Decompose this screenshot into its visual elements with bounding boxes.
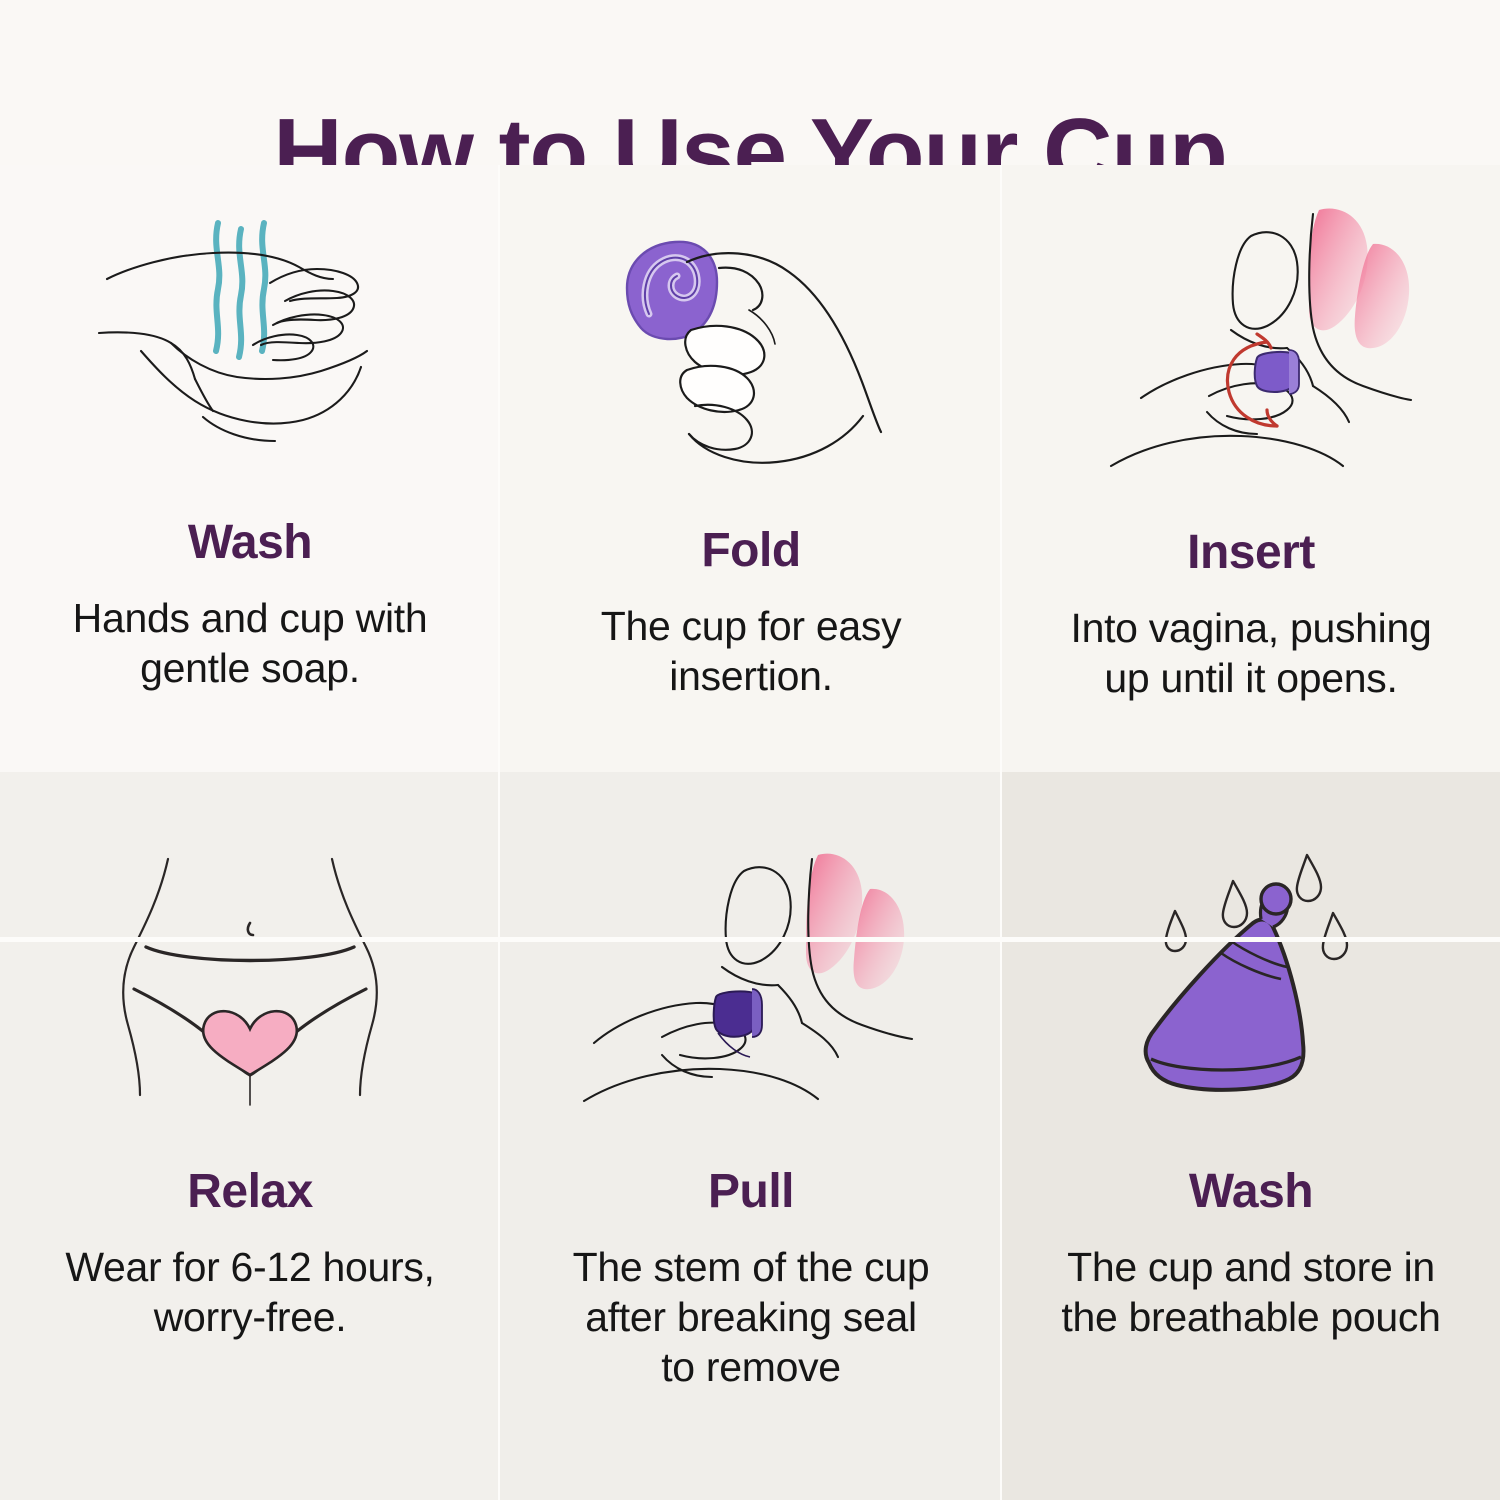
step-card-wash-cup: Wash The cup and store in the breathable… [1002, 772, 1500, 1500]
step-title: Wash [1189, 1168, 1313, 1216]
step-description: The stem of the cup after breaking seal … [555, 1242, 948, 1392]
step-title: Relax [187, 1168, 313, 1216]
infographic-page: How to Use Your Cup [0, 0, 1500, 1500]
step-card-wash-hands: Wash Hands and cup with gentle soap. [0, 165, 500, 772]
step-description: Hands and cup with gentle soap. [55, 593, 446, 693]
step-card-pull: Pull The stem of the cup after breaking … [500, 772, 1002, 1500]
step-description: Into vagina, pushing up until it opens. [1053, 603, 1450, 703]
step-card-fold: Fold The cup for easy insertion. [500, 165, 1002, 772]
step-card-relax: Relax Wear for 6-12 hours, worry-free. [0, 772, 500, 1500]
step-title: Pull [708, 1168, 794, 1216]
hand-holding-folded-cup-illustration [500, 165, 1002, 515]
step-description: The cup and store in the breathable pouc… [1043, 1242, 1458, 1342]
step-description: The cup for easy insertion. [583, 601, 920, 701]
step-description: Wear for 6-12 hours, worry-free. [47, 1242, 452, 1342]
step-title: Wash [188, 519, 312, 567]
step-title: Fold [701, 527, 800, 575]
torso-underwear-heart-illustration [0, 772, 500, 1142]
removing-cup-anatomy-illustration [500, 772, 1002, 1142]
step-card-insert: Insert Into vagina, pushing up until it … [1002, 165, 1500, 772]
inserting-cup-anatomy-illustration [1002, 165, 1500, 515]
step-title: Insert [1187, 529, 1315, 577]
purple-cup-with-water-drops-illustration [1002, 772, 1500, 1142]
steps-grid: Wash Hands and cup with gentle soap. [0, 165, 1500, 1500]
hands-washing-with-water-illustration [0, 165, 500, 515]
